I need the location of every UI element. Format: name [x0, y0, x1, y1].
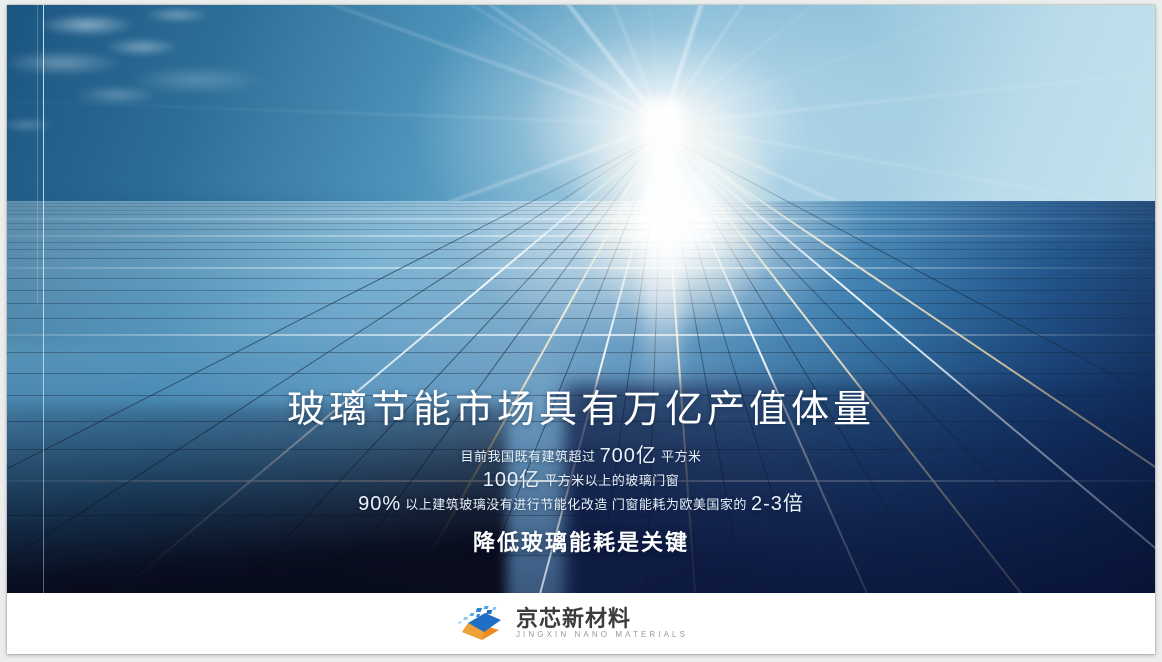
footer-bar: 京芯新材料 JINGXIN NANO MATERIALS [7, 593, 1155, 654]
hero-image: 玻璃节能市场具有万亿产值体量 目前我国既有建筑超过 700亿 平方米 100亿 … [7, 5, 1155, 593]
stat-3-number: 90% [358, 493, 401, 515]
brand-name-cn: 京芯新材料 [516, 608, 688, 630]
stat-3-number-2: 2-3倍 [751, 493, 804, 515]
stat-1-prefix: 目前我国既有建筑超过 [460, 449, 599, 464]
text-overlay: 玻璃节能市场具有万亿产值体量 目前我国既有建筑超过 700亿 平方米 100亿 … [7, 5, 1155, 593]
pixel-arrow-logo-icon [458, 605, 504, 643]
brand-logo-text: 京芯新材料 JINGXIN NANO MATERIALS [516, 608, 688, 639]
brand-name-en: JINGXIN NANO MATERIALS [516, 631, 688, 639]
page-title: 玻璃节能市场具有万亿产值体量 [7, 378, 1155, 433]
tagline: 降低玻璃能耗是关键 [7, 525, 1155, 557]
brand-logo: 京芯新材料 JINGXIN NANO MATERIALS [458, 605, 688, 643]
stat-line-3: 90% 以上建筑玻璃没有进行节能化改造 门窗能耗为欧美国家的 2-3倍 [7, 487, 1155, 516]
stat-3-suffix: 以上建筑玻璃没有进行节能化改造 门窗能耗为欧美国家的 [401, 497, 751, 512]
stat-2-suffix: 平方米以上的玻璃门窗 [540, 473, 679, 488]
stat-1-suffix: 平方米 [657, 449, 702, 464]
slide-frame: 玻璃节能市场具有万亿产值体量 目前我国既有建筑超过 700亿 平方米 100亿 … [7, 5, 1155, 654]
